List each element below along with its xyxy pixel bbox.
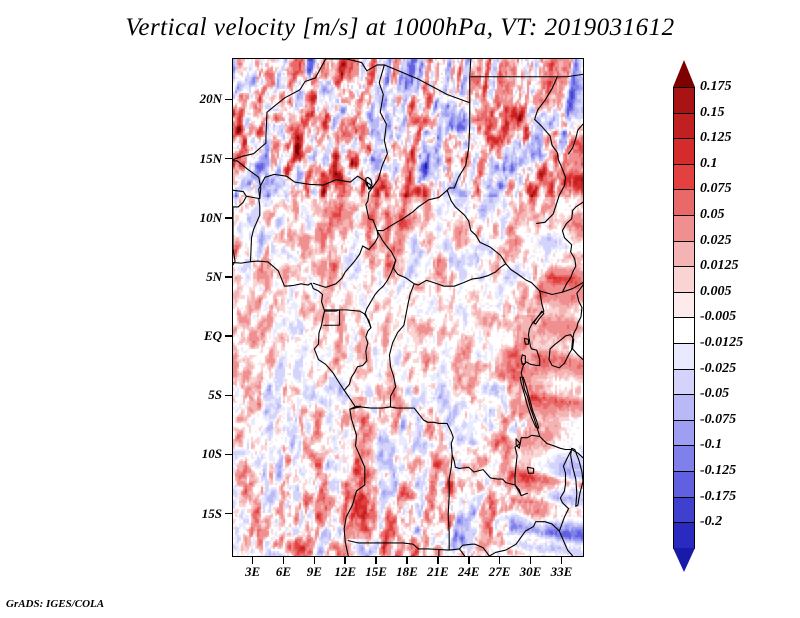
lon-tick-mark bbox=[283, 557, 285, 564]
lat-tick-label: 15N bbox=[170, 151, 222, 167]
lon-tick-mark bbox=[468, 557, 470, 564]
lon-tick-mark bbox=[499, 557, 501, 564]
credit-text: GrADS: IGES/COLA bbox=[6, 598, 104, 610]
lat-tick-label: 5S bbox=[170, 387, 222, 403]
lon-tick-mark bbox=[344, 557, 346, 564]
lon-tick-label: 30E bbox=[520, 564, 542, 580]
colorbar-tick-label: -0.2 bbox=[700, 514, 722, 530]
lat-tick-mark bbox=[225, 513, 232, 515]
colorbar-block bbox=[673, 445, 695, 472]
colorbar bbox=[673, 60, 695, 550]
lon-tick-label: 15E bbox=[365, 564, 387, 580]
lat-tick-mark bbox=[225, 158, 232, 160]
map-plot-area bbox=[232, 58, 584, 557]
lon-tick-label: 24E bbox=[458, 564, 480, 580]
colorbar-tick-label: -0.005 bbox=[700, 309, 736, 325]
colorbar-block bbox=[673, 215, 695, 242]
lat-tick-label: 10N bbox=[170, 210, 222, 226]
lon-tick-label: 12E bbox=[334, 564, 356, 580]
colorbar-tick-label: 0.15 bbox=[700, 105, 725, 121]
colorbar-block bbox=[673, 497, 695, 524]
colorbar-block bbox=[673, 420, 695, 447]
colorbar-tick-label: -0.175 bbox=[700, 489, 736, 505]
lat-tick-label: 20N bbox=[170, 91, 222, 107]
lon-tick-label: 9E bbox=[307, 564, 322, 580]
lon-tick-mark bbox=[375, 557, 377, 564]
colorbar-tick-label: 0.05 bbox=[700, 207, 725, 223]
colorbar-block bbox=[673, 343, 695, 370]
lon-tick-mark bbox=[252, 557, 254, 564]
colorbar-block bbox=[673, 522, 695, 549]
colorbar-tick-label: 0.025 bbox=[700, 233, 732, 249]
colorbar-block bbox=[673, 189, 695, 216]
lat-tick-mark bbox=[225, 99, 232, 101]
colorbar-max-arrow bbox=[673, 60, 695, 87]
colorbar-tick-label: -0.025 bbox=[700, 361, 736, 377]
colorbar-tick-label: 0.1 bbox=[700, 156, 718, 172]
lat-tick-mark bbox=[225, 454, 232, 456]
page-title: Vertical velocity [m/s] at 1000hPa, VT: … bbox=[0, 14, 800, 42]
colorbar-block bbox=[673, 369, 695, 396]
colorbar-block bbox=[673, 241, 695, 268]
colorbar-block bbox=[673, 87, 695, 114]
lon-tick-mark bbox=[437, 557, 439, 564]
colorbar-block bbox=[673, 164, 695, 191]
colorbar-tick-label: -0.125 bbox=[700, 463, 736, 479]
colorbar-tick-label: -0.05 bbox=[700, 386, 729, 402]
colorbar-tick-label: -0.1 bbox=[700, 437, 722, 453]
vertical-velocity-field bbox=[233, 59, 583, 556]
lat-tick-label: 15S bbox=[170, 506, 222, 522]
lat-tick-label: 10S bbox=[170, 446, 222, 462]
lon-tick-label: 27E bbox=[489, 564, 511, 580]
lon-tick-mark bbox=[530, 557, 532, 564]
colorbar-tick-label: 0.125 bbox=[700, 130, 732, 146]
colorbar-min-arrow bbox=[673, 548, 695, 572]
lon-tick-label: 6E bbox=[276, 564, 291, 580]
colorbar-tick-label: -0.075 bbox=[700, 412, 736, 428]
colorbar-block bbox=[673, 138, 695, 165]
lon-tick-mark bbox=[406, 557, 408, 564]
lon-tick-mark bbox=[314, 557, 316, 564]
lat-tick-mark bbox=[225, 335, 232, 337]
colorbar-tick-label: 0.005 bbox=[700, 284, 732, 300]
colorbar-tick-label: 0.075 bbox=[700, 181, 732, 197]
colorbar-tick-label: 0.175 bbox=[700, 79, 732, 95]
colorbar-block bbox=[673, 317, 695, 344]
lon-tick-label: 18E bbox=[396, 564, 418, 580]
lat-tick-mark bbox=[225, 395, 232, 397]
lat-tick-label: EQ bbox=[170, 328, 222, 344]
lon-tick-label: 33E bbox=[551, 564, 573, 580]
colorbar-block bbox=[673, 113, 695, 140]
lon-tick-label: 3E bbox=[245, 564, 260, 580]
lat-tick-label: 5N bbox=[170, 269, 222, 285]
colorbar-tick-label: 0.0125 bbox=[700, 258, 739, 274]
colorbar-block bbox=[673, 471, 695, 498]
colorbar-block bbox=[673, 266, 695, 293]
lon-tick-label: 21E bbox=[427, 564, 449, 580]
lon-tick-mark bbox=[561, 557, 563, 564]
lat-tick-mark bbox=[225, 217, 232, 219]
grads-plot-page: Vertical velocity [m/s] at 1000hPa, VT: … bbox=[0, 0, 800, 618]
lat-tick-mark bbox=[225, 276, 232, 278]
colorbar-block bbox=[673, 292, 695, 319]
colorbar-block bbox=[673, 394, 695, 421]
colorbar-tick-label: -0.0125 bbox=[700, 335, 743, 351]
